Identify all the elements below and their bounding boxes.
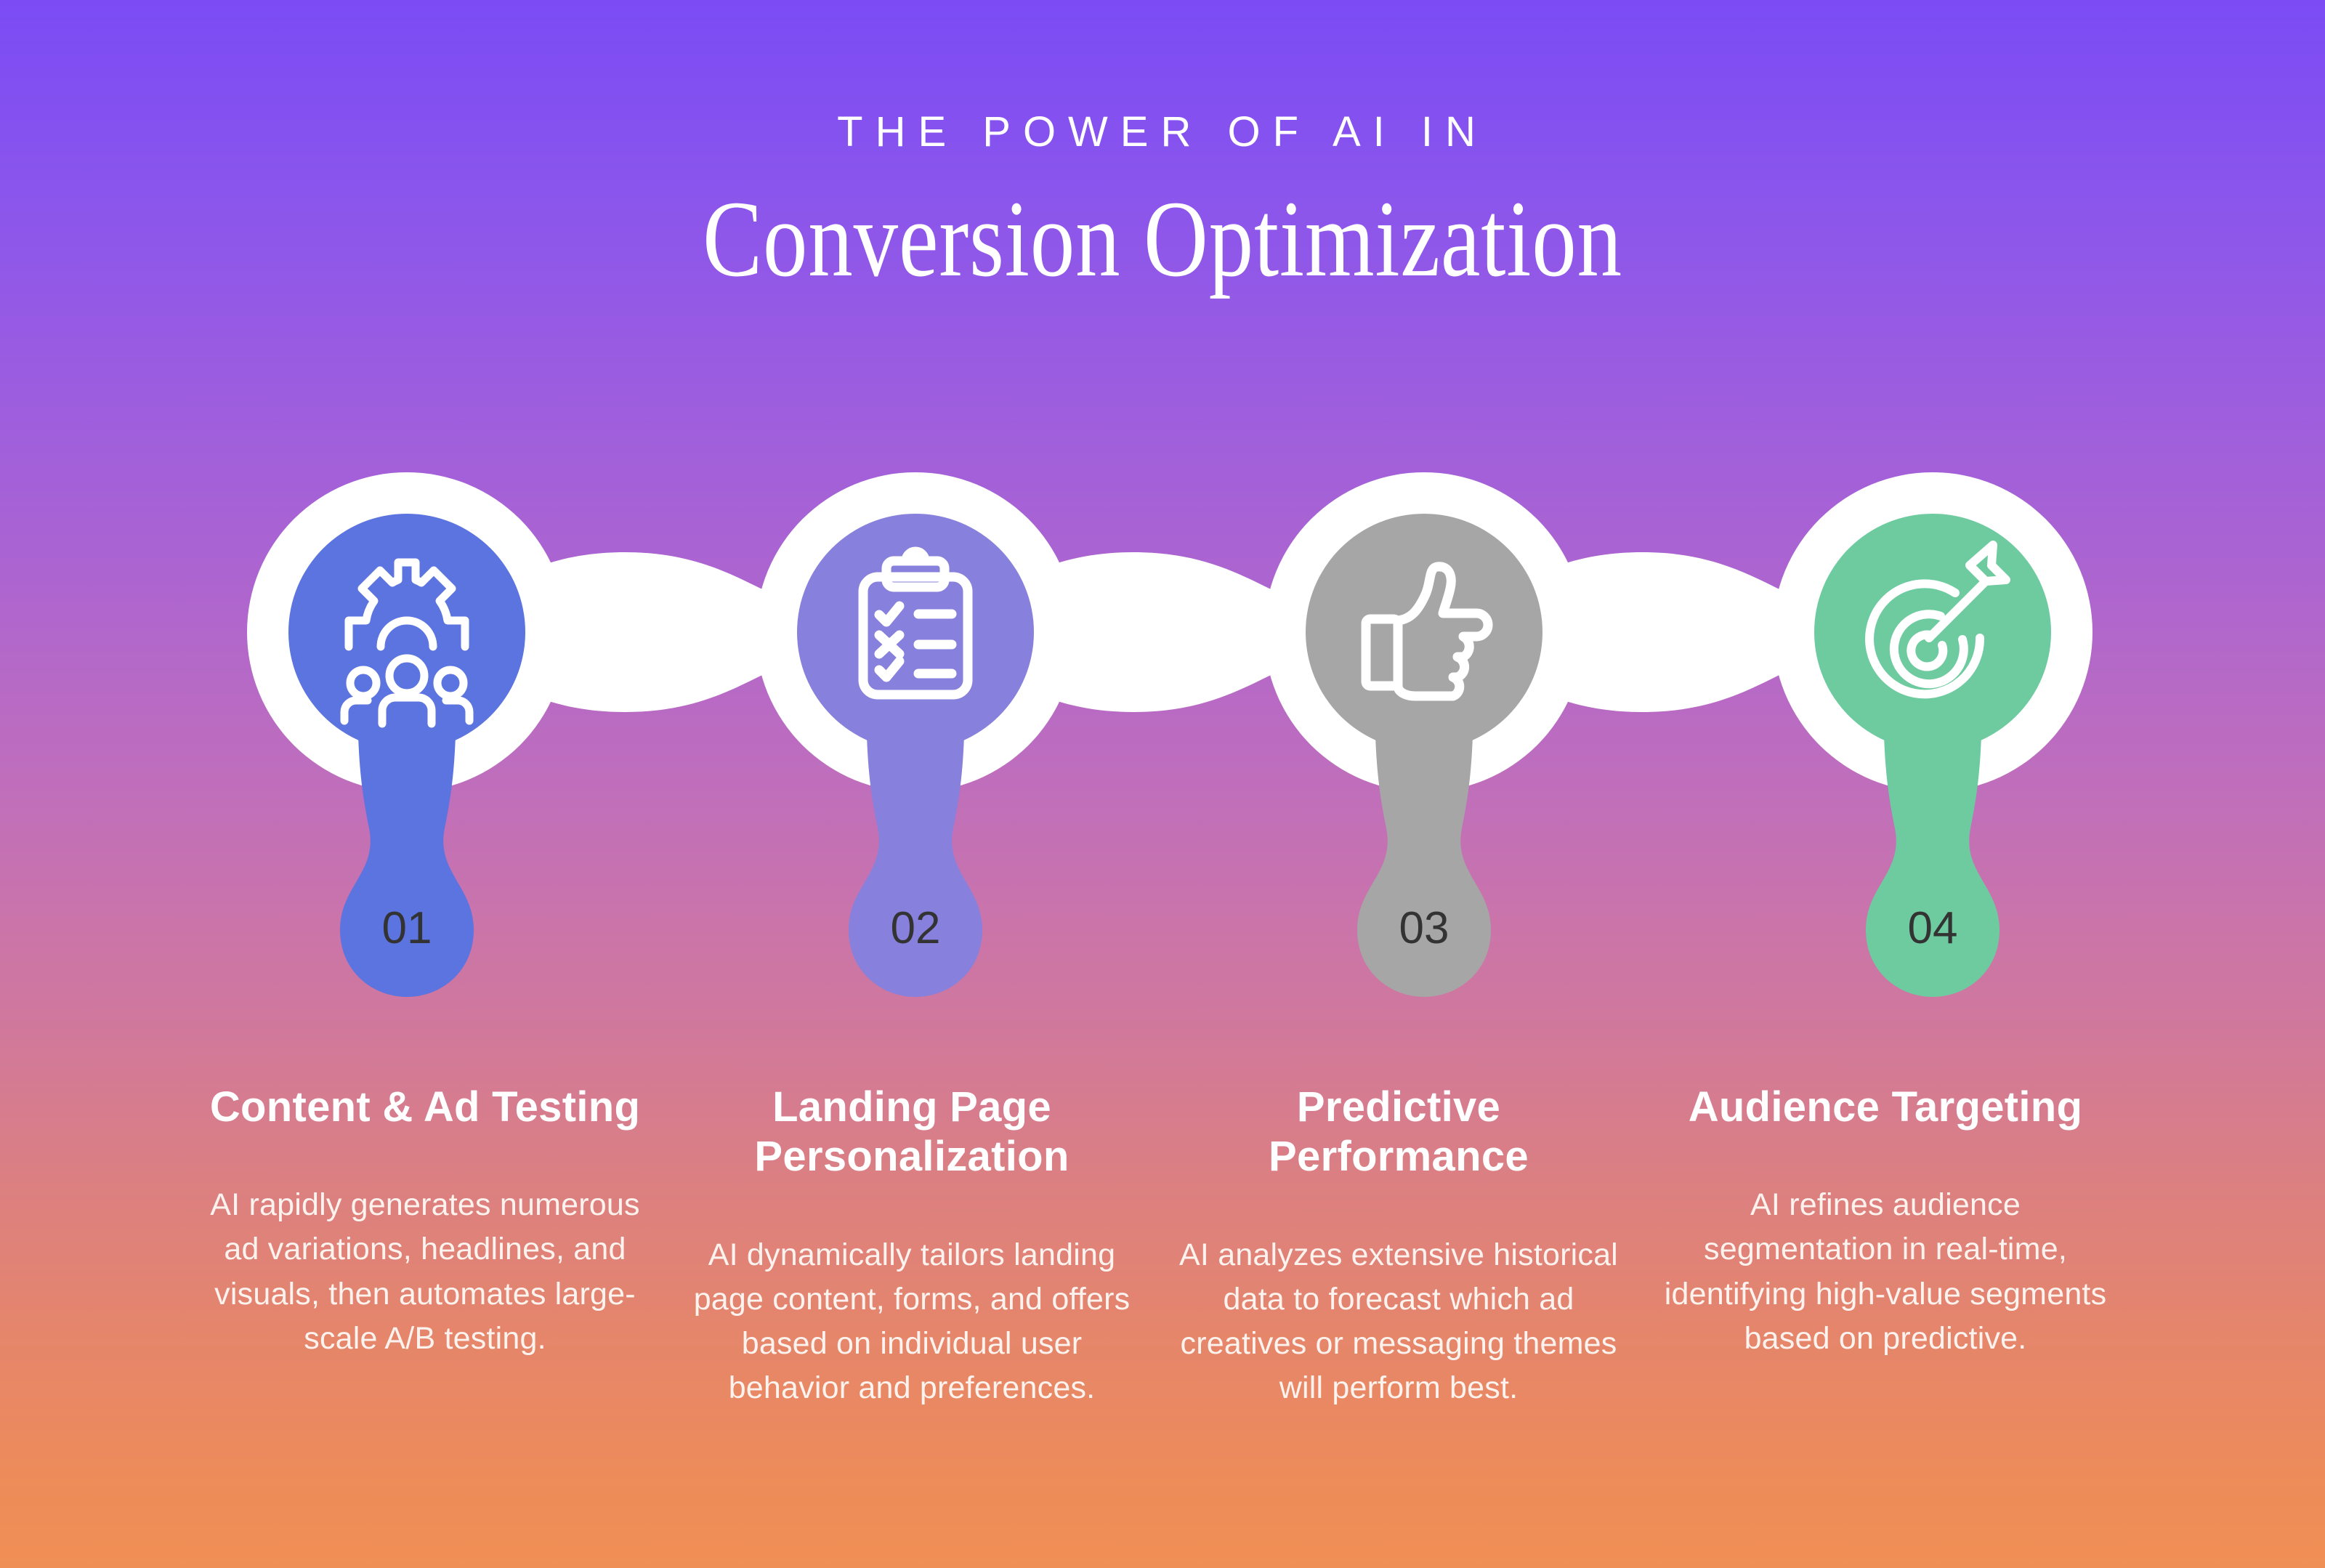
step-3-description: AI analyzes extensive historical data to… xyxy=(1173,1233,1625,1410)
step-2-number: 02 xyxy=(891,903,941,953)
step-chain-graphic: 01 02 03 xyxy=(0,450,2325,1017)
step-2-description: AI dynamically tailors landing page cont… xyxy=(686,1233,1138,1410)
eyebrow-text: THE POWER OF AI IN xyxy=(0,108,2325,156)
step-1-number: 01 xyxy=(382,903,432,953)
step-column-2: Landing Page Personalization AI dynamica… xyxy=(668,1083,1155,1410)
step-2-title: Landing Page Personalization xyxy=(686,1083,1138,1182)
step-1-icon-circle xyxy=(288,514,525,751)
step-column-1: Content & Ad Testing AI rapidly generate… xyxy=(182,1083,668,1410)
page-title: Conversion Optimization xyxy=(209,182,2116,297)
step-3-number: 03 xyxy=(1399,903,1449,953)
step-3-title: Predictive Performance xyxy=(1173,1083,1625,1182)
step-text-columns: Content & Ad Testing AI rapidly generate… xyxy=(0,1083,2325,1410)
step-4-number: 04 xyxy=(1908,903,1958,953)
step-1-description: AI rapidly generates numerous ad variati… xyxy=(199,1183,651,1360)
page-header: THE POWER OF AI IN Conversion Optimizati… xyxy=(0,0,2325,297)
step-4-description: AI refines audience segmentation in real… xyxy=(1659,1183,2111,1360)
step-4-title: Audience Targeting xyxy=(1659,1083,2111,1132)
step-3-icon-circle xyxy=(1306,514,1542,751)
step-1-title: Content & Ad Testing xyxy=(199,1083,651,1132)
step-column-3: Predictive Performance AI analyzes exten… xyxy=(1155,1083,1642,1410)
step-column-4: Audience Targeting AI refines audience s… xyxy=(1642,1083,2129,1410)
